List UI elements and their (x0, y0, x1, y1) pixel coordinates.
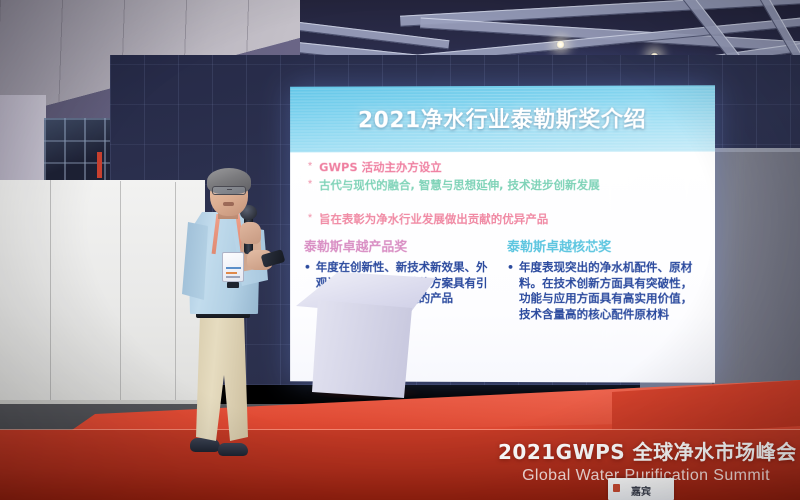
badge-line (226, 272, 237, 274)
speaker-name-badge (222, 252, 244, 282)
name-card-text: 嘉宾 (608, 483, 674, 498)
badge-clip (227, 282, 239, 288)
speaker-shoe-right (218, 443, 248, 456)
slide-bullet: * 旨在表彰为净水行业发展做出贡献的优异产品 (308, 212, 703, 226)
bullet-marker-icon: * (308, 160, 312, 173)
panel-seam (175, 182, 176, 402)
bullet-text: 旨在表彰为净水行业发展做出贡献的优异产品 (319, 212, 548, 226)
award-column-core: 泰勒斯卓越核芯奖 • 年度表现突出的净水机配件、原材料。在技术创新方面具有突破性… (507, 236, 704, 322)
eyeglasses-icon (212, 186, 246, 195)
badge-line (226, 267, 241, 269)
award-description: • 年度表现突出的净水机配件、原材料。在技术创新方面具有突破性，功能与应用方面具… (507, 260, 704, 322)
badge-line (226, 276, 240, 278)
speaker-hand-holding-microphone (240, 222, 261, 244)
eyeglasses-bridge (227, 189, 232, 190)
slide-bullet: * 古代与现代的融合, 智慧与思想延伸, 技术进步创新发展 (308, 178, 698, 192)
speaker-mouth (223, 202, 234, 206)
award-heading: 泰勒斯卓越核芯奖 (507, 236, 704, 255)
award-description-text: 年度表现突出的净水机配件、原材料。在技术创新方面具有突破性，功能与应用方面具有高… (519, 260, 704, 322)
panel-seam (50, 180, 51, 402)
wall-red-marker (97, 152, 102, 178)
award-heading: 泰勒斯卓越产品奖 (304, 236, 499, 255)
bullet-marker-icon: * (308, 178, 312, 191)
bullet-marker-icon: * (308, 212, 312, 225)
bullet-marker-icon: • (507, 260, 514, 322)
slide-title: 2021净水行业泰勒斯奖介绍 (290, 101, 715, 134)
panel-seam (120, 181, 121, 402)
stage-spotlight (556, 40, 565, 49)
bullet-text: GWPS 活动主办方设立 (319, 160, 442, 174)
bullet-text: 古代与现代的融合, 智慧与思想延伸, 技术进步创新发展 (319, 178, 600, 192)
guest-name-card: 嘉宾 (608, 478, 674, 500)
conference-stage-photo: 2021净水行业泰勒斯奖介绍 * GWPS 活动主办方设立 * 古代与现代的融合… (0, 0, 800, 500)
banner-title-chinese: 2021GWPS 全球净水市场峰会 (498, 436, 794, 465)
podium-body (312, 300, 412, 398)
slide-bullet: * GWPS 活动主办方设立 (308, 160, 442, 174)
